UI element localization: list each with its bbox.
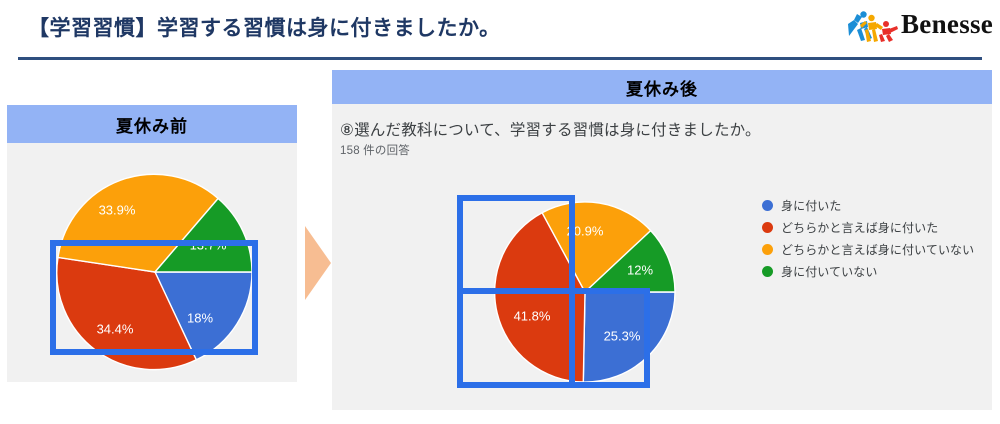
chart-legend: 身に付いた どちらかと言えば身に付いた どちらかと言えば身に付いていない 身に付… [762, 196, 974, 284]
panel-after-summer: 夏休み後 ⑧選んだ教科について、学習する習慣は身に付きましたか。 158 件の回… [332, 70, 992, 410]
panel-before-heading: 夏休み前 [7, 105, 297, 143]
legend-item-2[interactable]: どちらかと言えば身に付いていない [762, 240, 974, 259]
response-count: 158 件の回答 [340, 142, 410, 158]
legend-label-0: 身に付いた [781, 197, 842, 214]
panel-after-heading: 夏休み後 [332, 70, 992, 104]
legend-dot-icon-3 [762, 266, 773, 277]
logo-wordmark: Benesse [901, 9, 993, 40]
transition-arrow-icon [305, 226, 331, 300]
legend-label-1: どちらかと言えば身に付いた [781, 219, 938, 236]
benesse-people-logo-icon [845, 10, 901, 44]
question-text: ⑧選んだ教科について、学習する習慣は身に付きましたか。 [340, 118, 761, 140]
legend-dot-icon-2 [762, 244, 773, 255]
legend-label-2: どちらかと言えば身に付いていない [781, 241, 974, 258]
legend-item-0[interactable]: 身に付いた [762, 196, 974, 215]
legend-item-3[interactable]: 身に付いていない [762, 262, 974, 281]
legend-label-3: 身に付いていない [781, 263, 877, 280]
pie-label-before-2: 33.9% [99, 202, 136, 217]
pie-label-after-3: 12% [627, 262, 653, 277]
highlight-box-after-lower [457, 288, 650, 388]
page-title: 【学習習慣】学習する習慣は身に付きましたか。 [28, 12, 501, 42]
legend-dot-icon-0 [762, 200, 773, 211]
benesse-logo: Benesse [845, 8, 985, 48]
title-divider [18, 57, 982, 60]
legend-item-1[interactable]: どちらかと言えば身に付いた [762, 218, 974, 237]
highlight-box-before [50, 240, 258, 355]
legend-dot-icon-1 [762, 222, 773, 233]
